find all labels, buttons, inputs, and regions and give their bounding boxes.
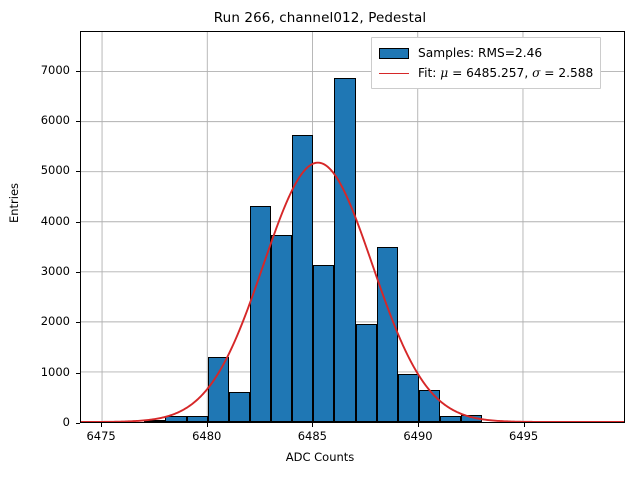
fit-curve-path: [81, 163, 624, 422]
x-tick-mark: [101, 423, 102, 427]
y-tick-label: 1000: [0, 365, 70, 379]
page-title: Run 266, channel012, Pedestal: [0, 10, 640, 26]
y-tick-mark: [76, 121, 80, 122]
y-tick-mark: [76, 272, 80, 273]
legend: Samples: RMS=2.46 Fit: μ = 6485.257, σ =…: [371, 37, 601, 89]
y-tick-label: 0: [0, 415, 70, 429]
x-axis-label: ADC Counts: [0, 450, 640, 464]
plot-area: [80, 31, 625, 423]
x-tick-label: 6490: [383, 429, 453, 443]
legend-label-samples: Samples: RMS=2.46: [418, 46, 542, 60]
legend-item-fit: Fit: μ = 6485.257, σ = 2.588: [379, 63, 593, 83]
x-tick-mark: [418, 423, 419, 427]
y-tick-mark: [76, 171, 80, 172]
legend-fit-prefix: Fit:: [418, 66, 440, 80]
legend-line-icon: [379, 73, 409, 74]
x-tick-label: 6485: [277, 429, 347, 443]
y-tick-mark: [76, 71, 80, 72]
x-tick-mark: [207, 423, 208, 427]
x-tick-mark: [524, 423, 525, 427]
legend-fit-mu-value: = 6485.257,: [448, 66, 532, 80]
y-tick-mark: [76, 373, 80, 374]
legend-fit-sigma-value: = 2.588: [540, 66, 593, 80]
legend-patch-icon: [379, 48, 409, 59]
y-tick-mark: [76, 423, 80, 424]
x-tick-label: 6480: [172, 429, 242, 443]
legend-item-samples: Samples: RMS=2.46: [379, 43, 593, 63]
legend-label-fit: Fit: μ = 6485.257, σ = 2.588: [418, 66, 593, 80]
x-tick-mark: [312, 423, 313, 427]
y-tick-mark: [76, 222, 80, 223]
y-tick-label: 7000: [0, 63, 70, 77]
figure-canvas: Run 266, channel012, Pedestal 6475648064…: [0, 0, 640, 480]
y-tick-label: 2000: [0, 314, 70, 328]
x-tick-label: 6475: [66, 429, 136, 443]
y-tick-mark: [76, 322, 80, 323]
gaussian-fit-curve: [81, 32, 624, 422]
x-tick-label: 6495: [489, 429, 559, 443]
mu-symbol: μ: [440, 66, 448, 80]
y-axis-label: Entries: [7, 113, 21, 293]
